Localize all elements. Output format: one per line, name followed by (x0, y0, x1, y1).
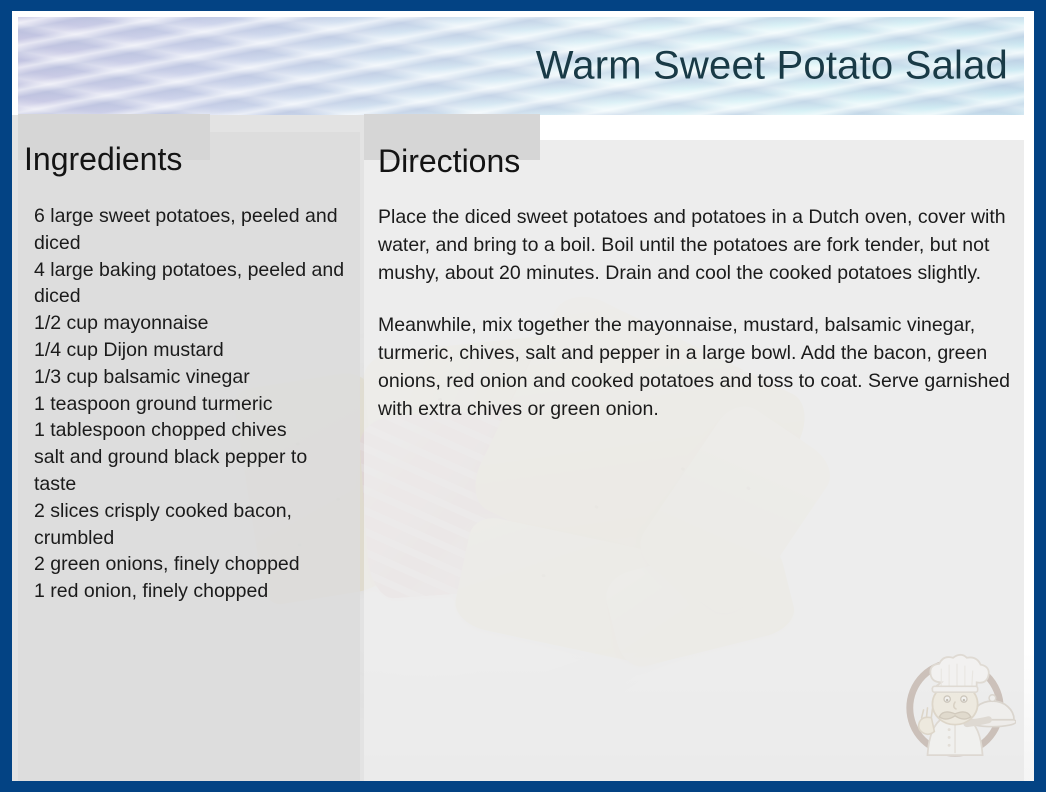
list-item: 6 large sweet potatoes, peeled and diced (34, 203, 354, 257)
directions-text: Place the diced sweet potatoes and potat… (378, 203, 1026, 423)
list-item: 2 green onions, finely chopped (34, 551, 354, 578)
slide-inner-canvas: Warm Sweet Potato Salad (12, 11, 1034, 781)
list-item: 1/2 cup mayonnaise (34, 310, 354, 337)
directions-paragraph: Place the diced sweet potatoes and potat… (378, 203, 1026, 287)
list-item: salt and ground black pepper to taste (34, 444, 354, 498)
list-item: 4 large baking potatoes, peeled and dice… (34, 257, 354, 311)
list-item: 1 red onion, finely chopped (34, 578, 354, 605)
directions-paragraph: Meanwhile, mix together the mayonnaise, … (378, 311, 1026, 423)
ingredients-heading: Ingredients (24, 143, 182, 175)
list-item: 2 slices crisply cooked bacon, crumbled (34, 498, 354, 552)
list-item: 1 teaspoon ground turmeric (34, 391, 354, 418)
list-item: 1/3 cup balsamic vinegar (34, 364, 354, 391)
ingredients-list: 6 large sweet potatoes, peeled and diced… (34, 203, 354, 605)
recipe-slide: Warm Sweet Potato Salad (0, 0, 1046, 792)
chef-logo-icon (898, 645, 1016, 763)
chef-logo (898, 645, 1016, 763)
directions-heading: Directions (378, 145, 520, 177)
header-banner: Warm Sweet Potato Salad (18, 17, 1024, 115)
page-title: Warm Sweet Potato Salad (536, 44, 1008, 89)
list-item: 1 tablespoon chopped chives (34, 417, 354, 444)
list-item: 1/4 cup Dijon mustard (34, 337, 354, 364)
